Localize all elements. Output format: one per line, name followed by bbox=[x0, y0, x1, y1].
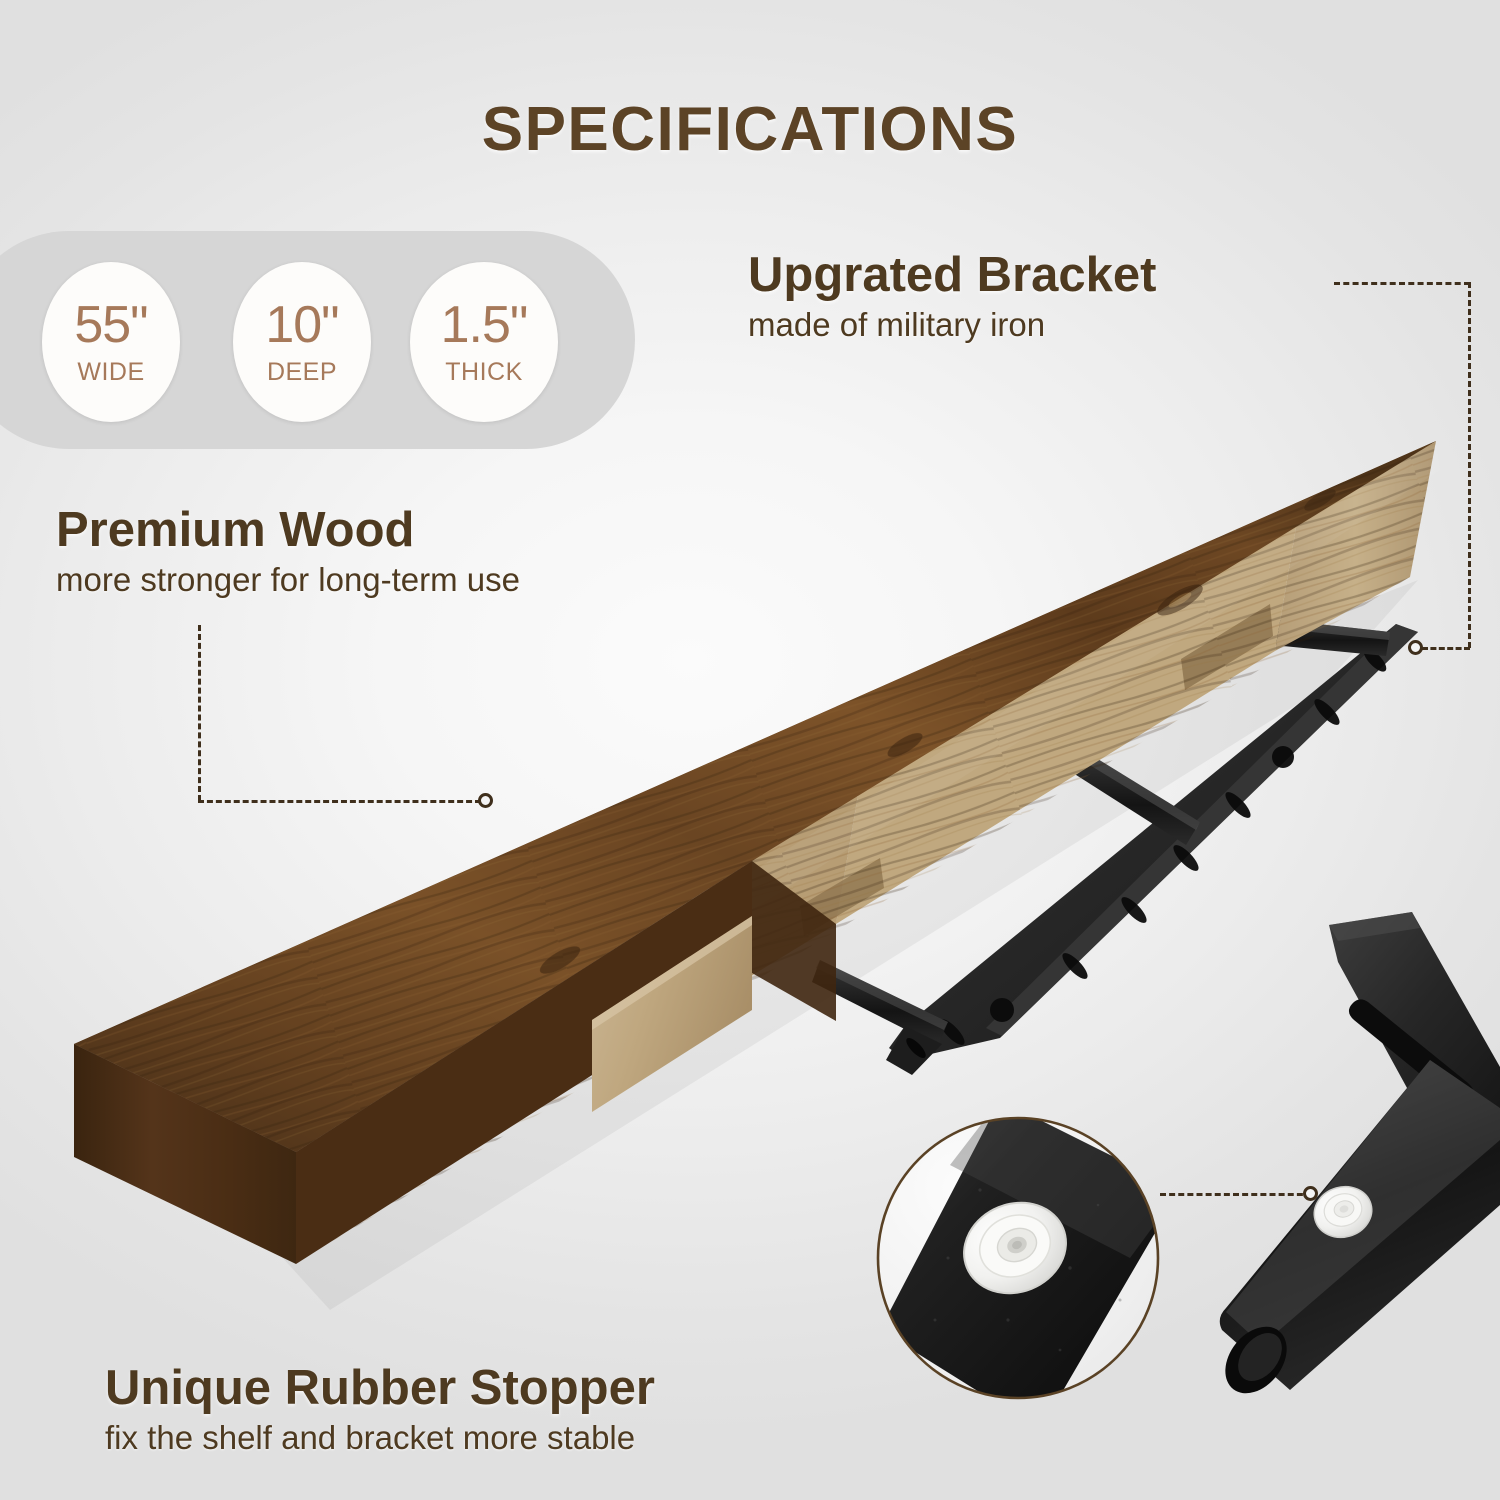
callout-bracket-title: Upgrated Bracket bbox=[748, 250, 1156, 301]
leader-bracket-bottom bbox=[1422, 647, 1470, 650]
leader-stopper-endpoint bbox=[1303, 1186, 1318, 1201]
spec-badge-width-label: WIDE bbox=[77, 360, 144, 385]
detached-bracket-foreground bbox=[1213, 912, 1500, 1405]
spec-badge-width-value: 55" bbox=[74, 299, 147, 351]
callout-wood: Premium Wood more stronger for long-term… bbox=[56, 505, 520, 599]
leader-bracket-endpoint bbox=[1408, 640, 1423, 655]
leader-wood-bottom bbox=[198, 800, 481, 803]
spec-badge-thickness: 1.5" THICK bbox=[410, 262, 558, 422]
callout-stopper-subtitle: fix the shelf and bracket more stable bbox=[105, 1419, 655, 1457]
leader-wood-endpoint bbox=[478, 793, 493, 808]
spec-badge-depth-value: 10" bbox=[265, 299, 338, 351]
spec-badge-depth-label: DEEP bbox=[267, 360, 337, 385]
page-title: SPECIFICATIONS bbox=[0, 94, 1500, 165]
product-photo bbox=[0, 0, 1500, 1500]
callout-stopper: Unique Rubber Stopper fix the shelf and … bbox=[105, 1363, 655, 1457]
infographic-canvas: SPECIFICATIONS 55" WIDE 10" DEEP 1.5" TH… bbox=[0, 0, 1500, 1500]
callout-stopper-title: Unique Rubber Stopper bbox=[105, 1363, 655, 1414]
leader-stopper-line bbox=[1160, 1193, 1312, 1196]
callout-wood-title: Premium Wood bbox=[56, 505, 520, 556]
spec-badge-thickness-value: 1.5" bbox=[441, 299, 528, 351]
spec-badge-thickness-label: THICK bbox=[445, 360, 523, 385]
stopper-zoom-lens bbox=[878, 1100, 1180, 1430]
callout-wood-subtitle: more stronger for long-term use bbox=[56, 561, 520, 599]
spec-badge-width: 55" WIDE bbox=[42, 262, 180, 422]
callout-bracket: Upgrated Bracket made of military iron bbox=[748, 250, 1156, 344]
leader-bracket-right bbox=[1468, 282, 1471, 648]
spec-badge-depth: 10" DEEP bbox=[233, 262, 371, 422]
leader-wood-left bbox=[198, 625, 201, 801]
leader-bracket-top bbox=[1334, 282, 1470, 285]
callout-bracket-subtitle: made of military iron bbox=[748, 306, 1156, 344]
